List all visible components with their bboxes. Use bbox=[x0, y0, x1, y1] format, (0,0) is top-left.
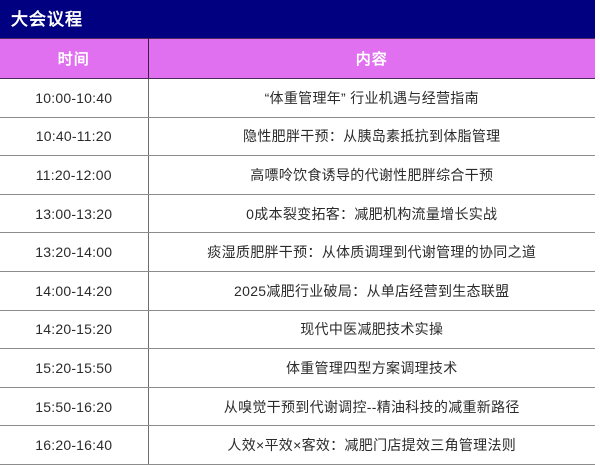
table-row: 16:20-16:40人效×平效×客效：减肥门店提效三角管理法则 bbox=[0, 426, 595, 465]
session-topic: 体重管理四型方案调理技术 bbox=[148, 349, 595, 388]
page-title-bar: 大会议程 bbox=[0, 0, 595, 38]
session-topic: 隐性肥胖干预：从胰岛素抵抗到体脂管理 bbox=[148, 117, 595, 156]
session-topic: 痰湿质肥胖干预：从体质调理到代谢管理的协同之道 bbox=[148, 233, 595, 272]
session-time: 15:20-15:50 bbox=[0, 349, 148, 388]
agenda-table: 时间 内容 10:00-10:40“体重管理年” 行业机遇与经营指南10:40-… bbox=[0, 38, 595, 465]
column-header-topic: 内容 bbox=[148, 39, 595, 79]
table-row: 14:00-14:202025减肥行业破局：从单店经营到生态联盟 bbox=[0, 271, 595, 310]
session-time: 13:00-13:20 bbox=[0, 194, 148, 233]
session-topic: 高嘌呤饮食诱导的代谢性肥胖综合干预 bbox=[148, 156, 595, 195]
session-time: 14:20-15:20 bbox=[0, 310, 148, 349]
table-row: 15:20-15:50体重管理四型方案调理技术 bbox=[0, 349, 595, 388]
session-time: 11:20-12:00 bbox=[0, 156, 148, 195]
agenda-table-body: 10:00-10:40“体重管理年” 行业机遇与经营指南10:40-11:20隐… bbox=[0, 79, 595, 465]
session-topic: 0成本裂变拓客：减肥机构流量增长实战 bbox=[148, 194, 595, 233]
session-time: 10:00-10:40 bbox=[0, 79, 148, 118]
agenda-page: 大会议程 时间 内容 10:00-10:40“体重管理年” 行业机遇与经营指南1… bbox=[0, 0, 600, 465]
session-topic: 2025减肥行业破局：从单店经营到生态联盟 bbox=[148, 271, 595, 310]
table-header-row: 时间 内容 bbox=[0, 39, 595, 79]
table-row: 10:00-10:40“体重管理年” 行业机遇与经营指南 bbox=[0, 79, 595, 118]
session-time: 16:20-16:40 bbox=[0, 426, 148, 465]
session-time: 15:50-16:20 bbox=[0, 387, 148, 426]
column-header-time: 时间 bbox=[0, 39, 148, 79]
table-row: 13:20-14:00痰湿质肥胖干预：从体质调理到代谢管理的协同之道 bbox=[0, 233, 595, 272]
session-time: 10:40-11:20 bbox=[0, 117, 148, 156]
table-row: 10:40-11:20隐性肥胖干预：从胰岛素抵抗到体脂管理 bbox=[0, 117, 595, 156]
session-time: 14:00-14:20 bbox=[0, 271, 148, 310]
agenda-table-header: 时间 内容 bbox=[0, 39, 595, 79]
session-topic: 从嗅觉干预到代谢调控--精油科技的减重新路径 bbox=[148, 387, 595, 426]
session-topic: “体重管理年” 行业机遇与经营指南 bbox=[148, 79, 595, 118]
table-row: 15:50-16:20从嗅觉干预到代谢调控--精油科技的减重新路径 bbox=[0, 387, 595, 426]
page-title: 大会议程 bbox=[0, 11, 83, 28]
session-topic: 人效×平效×客效：减肥门店提效三角管理法则 bbox=[148, 426, 595, 465]
table-row: 14:20-15:20现代中医减肥技术实操 bbox=[0, 310, 595, 349]
table-row: 13:00-13:200成本裂变拓客：减肥机构流量增长实战 bbox=[0, 194, 595, 233]
session-topic: 现代中医减肥技术实操 bbox=[148, 310, 595, 349]
session-time: 13:20-14:00 bbox=[0, 233, 148, 272]
table-row: 11:20-12:00高嘌呤饮食诱导的代谢性肥胖综合干预 bbox=[0, 156, 595, 195]
